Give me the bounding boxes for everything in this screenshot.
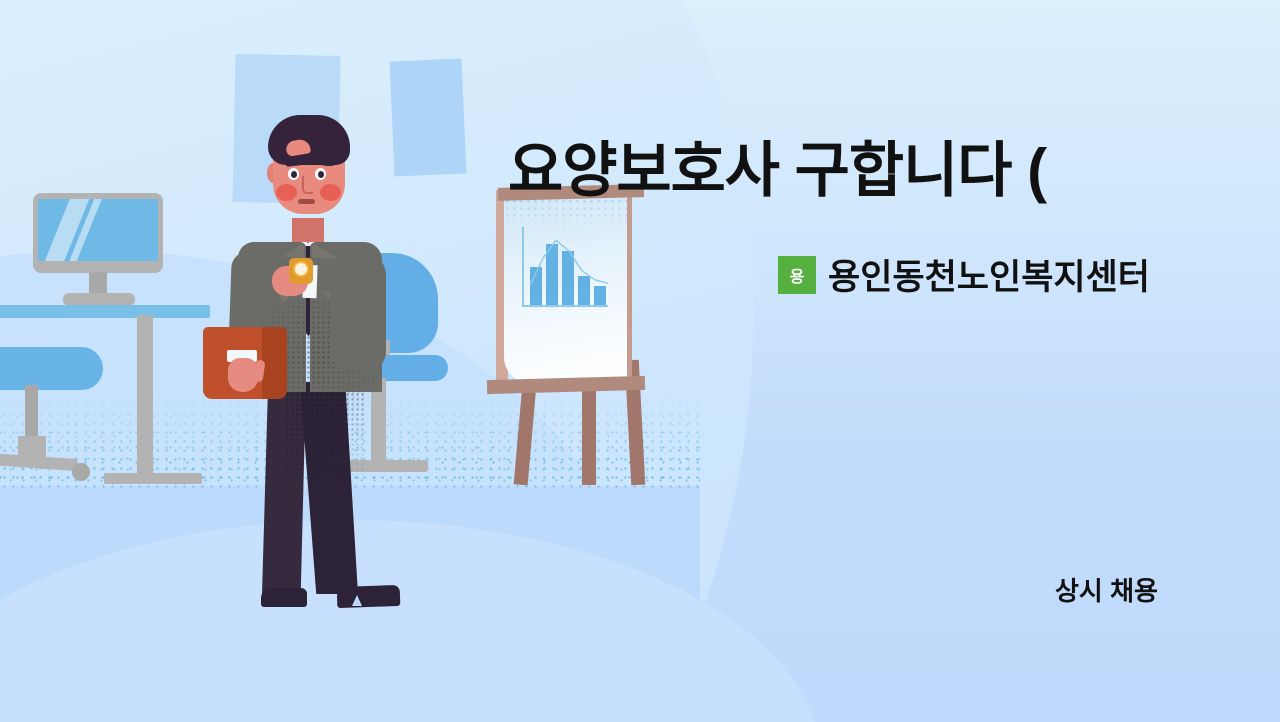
job-posting-poster: 요양보호사 구합니다 ( 용 용인동천노인복지센터 상시 채용 [0,0,1280,722]
status-badge: 상시 채용 [1055,571,1158,608]
shoe-left-icon [261,588,307,607]
office-illustration [0,0,700,722]
cheek-left [276,184,297,201]
pupil-left [291,171,297,178]
shoe-right-icon [337,585,401,608]
wristwatch-icon [293,261,309,277]
nose-icon [302,176,313,194]
company-name: 용인동천노인복지센터 [828,249,1150,300]
businessman-figure [0,0,700,722]
company-logo-badge: 용 [778,256,816,294]
company-identity[interactable]: 용 용인동천노인복지센터 [778,249,1150,300]
cheek-right [320,184,341,201]
mouth-icon [298,199,315,204]
pupil-right [318,171,324,178]
page-title: 요양보호사 구합니다 ( [508,139,1208,202]
briefcase-shadow [262,327,287,399]
